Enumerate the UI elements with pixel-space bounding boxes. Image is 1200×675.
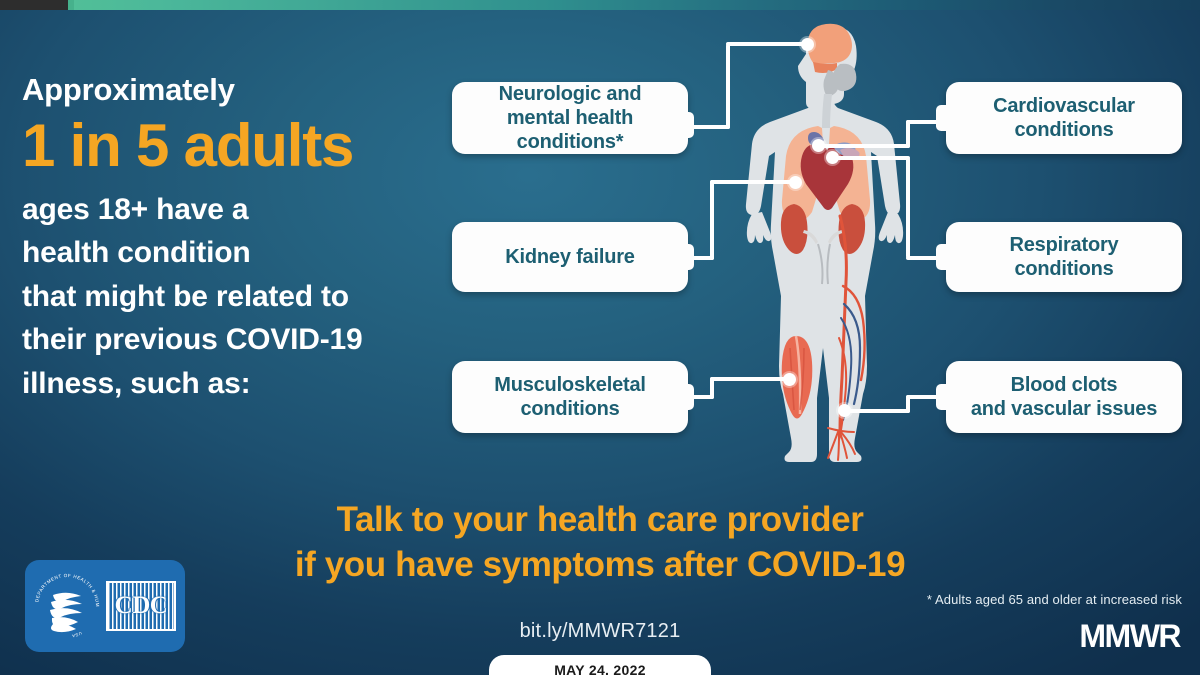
headline-block: Approximately 1 in 5 adults ages 18+ hav… (22, 74, 442, 405)
publication-date-pill: MAY 24, 2022 (489, 655, 711, 675)
connector-clots-h2 (846, 409, 910, 413)
callout-bloodclots-label: Blood clots and vascular issues (971, 373, 1157, 421)
connector-neurologic-v (726, 44, 730, 129)
callout-neurologic-label: Neurologic and mental health conditions* (460, 82, 680, 154)
hhs-seal-icon: DEPARTMENT OF HEALTH & HUMAN SERVICES US… (30, 569, 104, 643)
cdc-wordmark: CDC (106, 581, 176, 631)
callout-neurologic-notch (682, 112, 694, 138)
callout-cardiovascular[interactable]: Cardiovascular conditions (946, 82, 1182, 154)
callout-musculoskeletal-label: Musculoskeletal conditions (494, 373, 646, 421)
connector-respiratory-dot (826, 151, 839, 164)
infographic-canvas: Approximately 1 in 5 adults ages 18+ hav… (0, 0, 1200, 675)
top-gradient-bar (0, 0, 1200, 10)
callout-cardiovascular-label: Cardiovascular conditions (993, 94, 1135, 142)
connector-clots-dot (838, 404, 851, 417)
callout-respiratory-label: Respiratory conditions (1010, 233, 1119, 281)
human-body-illustration (700, 18, 950, 473)
callout-kidney-label: Kidney failure (505, 245, 634, 269)
publication-date: MAY 24, 2022 (554, 662, 646, 675)
top-bar-green-segment (68, 0, 74, 10)
svg-text:USA: USA (71, 631, 82, 639)
connector-respiratory-v (906, 158, 910, 258)
callout-kidney[interactable]: Kidney failure (452, 222, 688, 292)
cdc-wordmark-text: CDC (115, 592, 168, 620)
callout-cardiovascular-notch (936, 105, 948, 131)
connector-muscle-h2 (710, 377, 788, 381)
callout-musculoskeletal[interactable]: Musculoskeletal conditions (452, 361, 688, 433)
connector-kidney-h2 (710, 180, 794, 184)
headline-body: ages 18+ have a health condition that mi… (22, 188, 442, 406)
headline-approx: Approximately (22, 74, 442, 105)
top-bar-dark-segment (0, 0, 68, 10)
connector-neurologic-dot (801, 38, 814, 51)
connector-muscle-dot (783, 373, 796, 386)
connector-respiratory-h2 (834, 156, 910, 160)
connector-kidney-dot (789, 176, 802, 189)
connector-cardio-h2 (820, 144, 910, 148)
callout-musculoskeletal-notch (682, 384, 694, 410)
headline-statistic: 1 in 5 adults (22, 114, 442, 179)
connector-neurologic-h2 (726, 42, 808, 46)
connector-kidney-v (710, 180, 714, 260)
callout-neurologic[interactable]: Neurologic and mental health conditions* (452, 82, 688, 154)
mmwr-logo: MMWR (1079, 618, 1180, 655)
connector-cardio-dot (812, 139, 825, 152)
callout-bloodclots[interactable]: Blood clots and vascular issues (946, 361, 1182, 433)
footnote-text: * Adults aged 65 and older at increased … (927, 592, 1182, 607)
callout-bloodclots-notch (936, 384, 948, 410)
cdc-logo[interactable]: DEPARTMENT OF HEALTH & HUMAN SERVICES US… (25, 560, 185, 652)
callout-respiratory-notch (936, 244, 948, 270)
callout-kidney-notch (682, 244, 694, 270)
callout-respiratory[interactable]: Respiratory conditions (946, 222, 1182, 292)
